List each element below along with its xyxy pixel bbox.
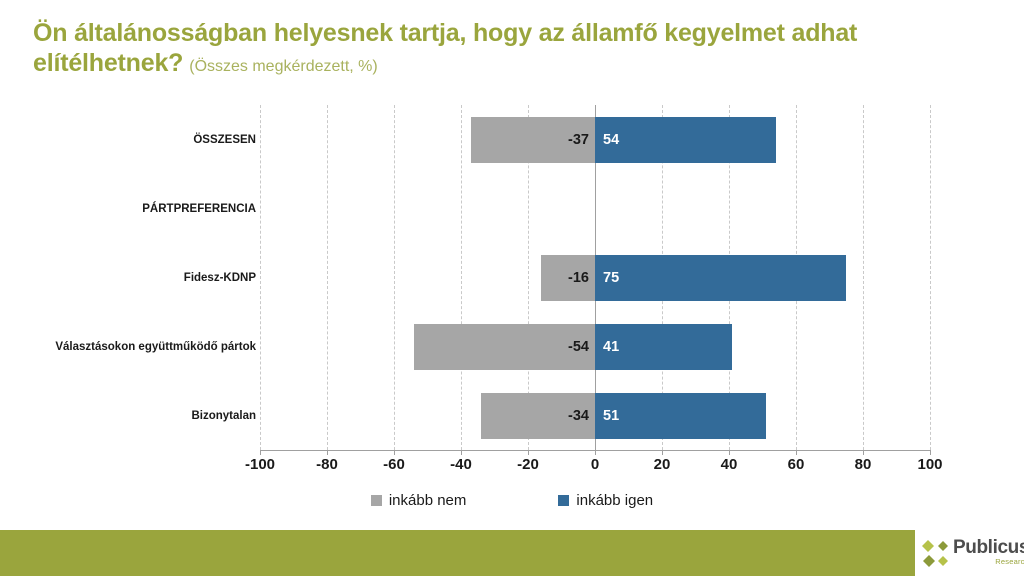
tick-mark--80 — [327, 450, 328, 455]
bar-negative: -37 — [471, 117, 595, 163]
logo-name: Publicus — [953, 538, 1024, 557]
page-subtitle: (Összes megkérdezett, %) — [189, 58, 378, 75]
tick-label-20: 20 — [632, 456, 692, 473]
plot-area: ÖSSZESEN-3754PÁRTPREFERENCIAFidesz-KDNP-… — [260, 105, 930, 450]
bar-value-negative: -37 — [568, 117, 589, 163]
legend-item-0[interactable]: inkább nem — [371, 492, 467, 509]
tick-label-40: 40 — [699, 456, 759, 473]
bar-value-positive: 75 — [603, 255, 619, 301]
bar-value-negative: -16 — [568, 255, 589, 301]
bar-value-positive: 51 — [603, 393, 619, 439]
logo-subtitle: Research — [953, 557, 1024, 567]
tick-label--80: -80 — [297, 456, 357, 473]
footer-logo: Publicus Research — [915, 530, 1024, 576]
square-swatch-gray — [371, 495, 382, 506]
chart-legend: inkább neminkább igen — [0, 492, 1024, 510]
square-swatch-blue — [558, 495, 569, 506]
tick-label--40: -40 — [431, 456, 491, 473]
bar-negative: -16 — [541, 255, 595, 301]
chart-row: ÖSSZESEN-3754 — [260, 117, 930, 163]
bar-value-positive: 41 — [603, 324, 619, 370]
four-diamonds-icon — [921, 539, 951, 569]
tick-mark--20 — [528, 450, 529, 455]
bar-value-negative: -54 — [568, 324, 589, 370]
legend-item-1[interactable]: inkább igen — [558, 492, 653, 509]
bar-positive: 51 — [595, 393, 766, 439]
bar-negative: -54 — [414, 324, 595, 370]
gridline-100 — [930, 105, 931, 450]
tick-mark-0 — [595, 450, 596, 455]
bar-value-positive: 54 — [603, 117, 619, 163]
bar-positive: 75 — [595, 255, 846, 301]
chart-container: ÖSSZESEN-3754PÁRTPREFERENCIAFidesz-KDNP-… — [0, 100, 1024, 500]
tick-mark--60 — [394, 450, 395, 455]
tick-mark-60 — [796, 450, 797, 455]
tick-label-0: 0 — [565, 456, 625, 473]
tick-mark-20 — [662, 450, 663, 455]
bar-negative: -34 — [481, 393, 595, 439]
logo-text: Publicus Research — [953, 538, 1024, 567]
tick-label-60: 60 — [766, 456, 826, 473]
footer-green-bar — [0, 530, 915, 576]
chart-section-header: PÁRTPREFERENCIA — [260, 186, 930, 232]
category-label: PÁRTPREFERENCIA — [0, 186, 256, 232]
page-title: Ön általánosságban helyesnek tartja, hog… — [33, 19, 857, 77]
legend-label: inkább nem — [389, 492, 467, 509]
legend-label: inkább igen — [576, 492, 653, 509]
tick-mark-40 — [729, 450, 730, 455]
tick-label-100: 100 — [900, 456, 960, 473]
bar-positive: 54 — [595, 117, 776, 163]
tick-label--20: -20 — [498, 456, 558, 473]
tick-mark-80 — [863, 450, 864, 455]
category-label: Bizonytalan — [0, 393, 256, 439]
bar-positive: 41 — [595, 324, 732, 370]
chart-row: Bizonytalan-3451 — [260, 393, 930, 439]
category-label: Választásokon együttműködő pártok — [0, 324, 256, 370]
bar-value-negative: -34 — [568, 393, 589, 439]
tick-mark--40 — [461, 450, 462, 455]
tick-label-80: 80 — [833, 456, 893, 473]
chart-row: Fidesz-KDNP-1675 — [260, 255, 930, 301]
chart-row: Választásokon együttműködő pártok-5441 — [260, 324, 930, 370]
tick-mark--100 — [260, 450, 261, 455]
tick-label--60: -60 — [364, 456, 424, 473]
tick-mark-100 — [930, 450, 931, 455]
category-label: ÖSSZESEN — [0, 117, 256, 163]
tick-label--100: -100 — [230, 456, 290, 473]
category-label: Fidesz-KDNP — [0, 255, 256, 301]
title-block: Ön általánosságban helyesnek tartja, hog… — [33, 18, 983, 82]
